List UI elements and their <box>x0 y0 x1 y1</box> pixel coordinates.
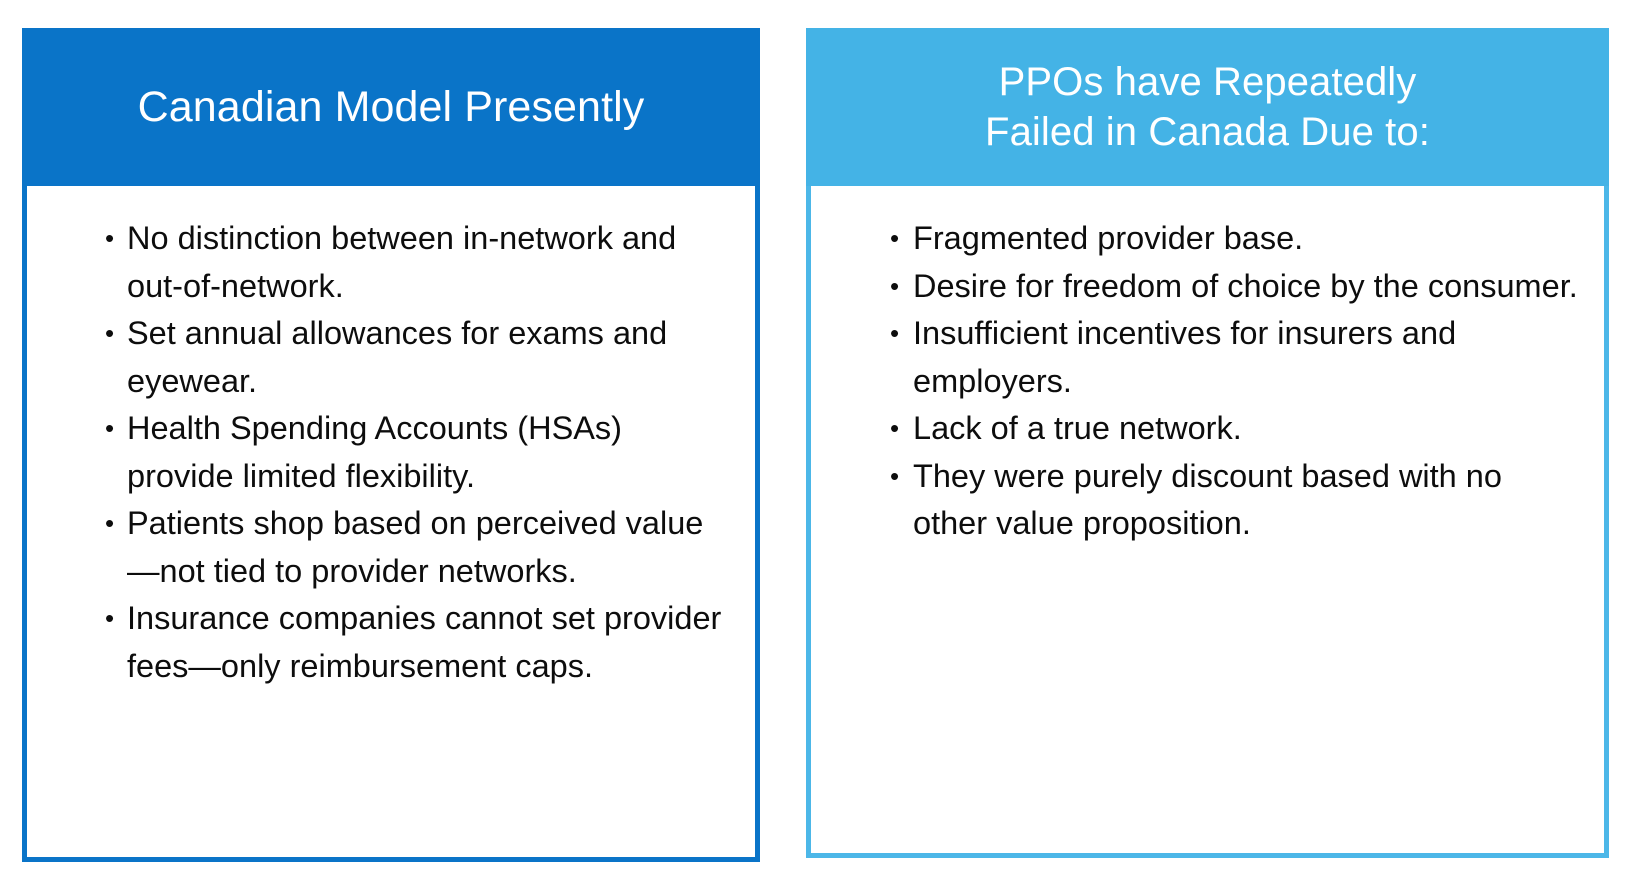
list-item: Fragmented provider base. <box>890 215 1580 263</box>
bullet-list-ppo-failures: Fragmented provider base. Desire for fre… <box>890 215 1580 548</box>
panel-title-ppo-failures: PPOs have Repeatedly Failed in Canada Du… <box>985 57 1430 157</box>
panel-title-line: Canadian Model Presently <box>138 82 645 132</box>
list-item: Insurance companies cannot set provider … <box>105 595 729 690</box>
bullet-list-canadian-model: No distinction between in-network and ou… <box>105 215 729 690</box>
slide-canvas: Canadian Model Presently No distinction … <box>0 0 1629 888</box>
panel-body-ppo-failures: Fragmented provider base. Desire for fre… <box>811 186 1604 853</box>
list-item: Desire for freedom of choice by the cons… <box>890 263 1580 311</box>
panel-body-canadian-model: No distinction between in-network and ou… <box>27 186 755 857</box>
list-item: Lack of a true network. <box>890 405 1580 453</box>
panel-canadian-model: Canadian Model Presently No distinction … <box>22 28 760 862</box>
list-item: Health Spending Accounts (HSAs) provide … <box>105 405 729 500</box>
panel-title-line: PPOs have Repeatedly <box>985 57 1430 107</box>
list-item: Set annual allowances for exams and eyew… <box>105 310 729 405</box>
panel-title-line: Failed in Canada Due to: <box>985 107 1430 157</box>
panel-ppo-failures: PPOs have Repeatedly Failed in Canada Du… <box>806 28 1609 858</box>
panel-header-canadian-model: Canadian Model Presently <box>22 28 760 186</box>
list-item: Patients shop based on perceived value—n… <box>105 500 729 595</box>
list-item: No distinction between in-network and ou… <box>105 215 729 310</box>
list-item: Insufficient incentives for insurers and… <box>890 310 1580 405</box>
panel-title-canadian-model: Canadian Model Presently <box>138 82 645 132</box>
list-item: They were purely discount based with no … <box>890 453 1580 548</box>
panel-header-ppo-failures: PPOs have Repeatedly Failed in Canada Du… <box>806 28 1609 186</box>
